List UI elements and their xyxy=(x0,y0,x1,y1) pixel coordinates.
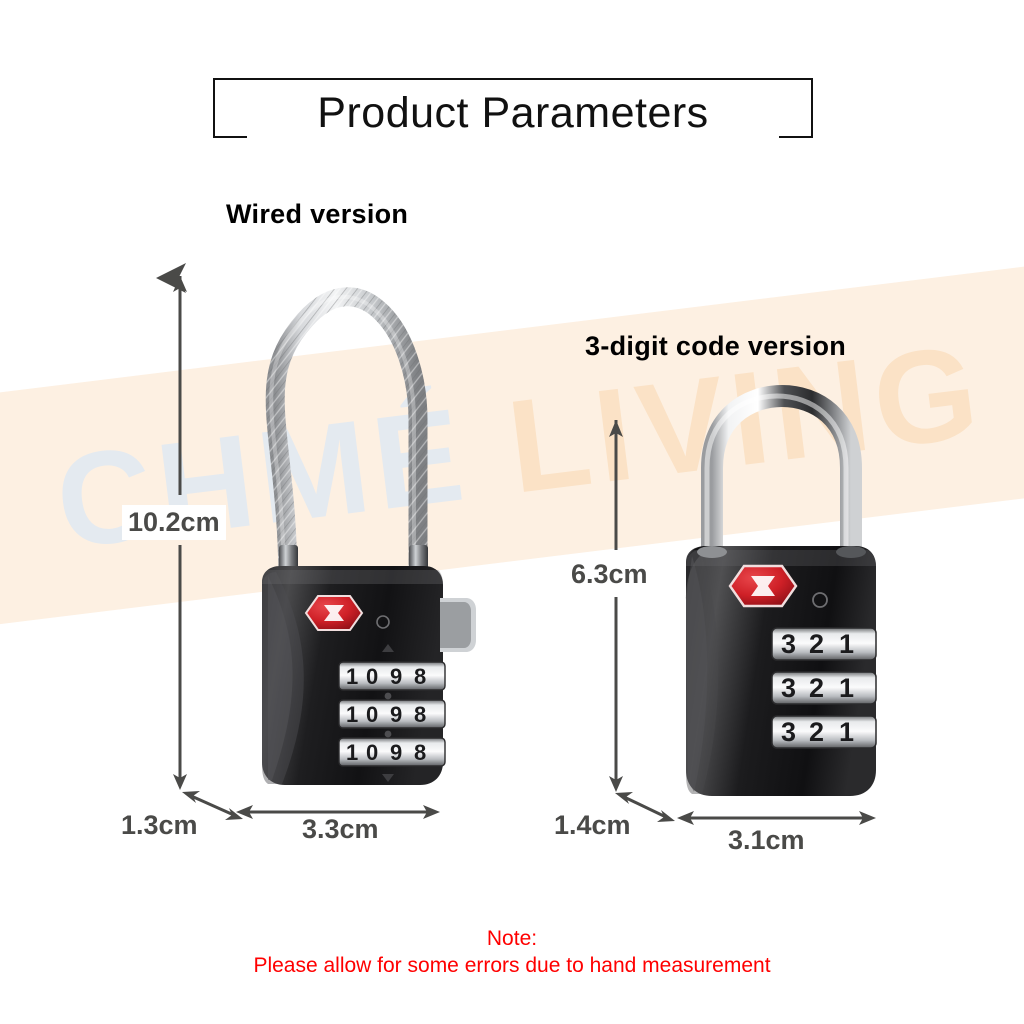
dimension-label-depth-padlock: 1.4cm xyxy=(548,808,637,843)
note-block: Note: Please allow for some errors due t… xyxy=(0,925,1024,979)
arrow-height-padlock xyxy=(609,420,623,792)
dimension-label-width-padlock: 3.1cm xyxy=(722,823,811,858)
infographic-canvas: CHMÉ LIVING Product Parameters Wired ver… xyxy=(0,0,1024,1024)
note-text: Please allow for some errors due to hand… xyxy=(0,952,1024,979)
dimension-label-height-padlock: 6.3cm xyxy=(565,557,654,592)
dimension-label-width-wired: 3.3cm xyxy=(296,812,385,847)
dimension-label-depth-wired: 1.3cm xyxy=(115,808,204,843)
note-title: Note: xyxy=(0,925,1024,952)
dimension-label-height-wired: 10.2cm xyxy=(122,505,226,540)
